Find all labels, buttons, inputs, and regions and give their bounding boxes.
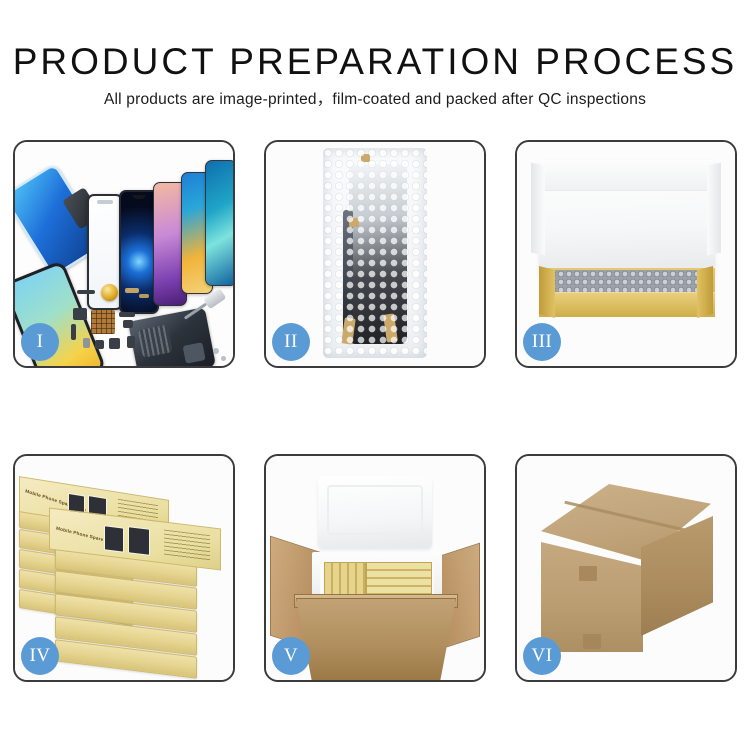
spare-part: [109, 338, 120, 349]
step-badge-icon: II: [272, 323, 310, 361]
header: PRODUCT PREPARATION PROCESS All products…: [0, 0, 750, 110]
phone-rear-chassis: [128, 307, 216, 368]
spare-part: [73, 308, 87, 320]
step-badge-icon: IV: [21, 637, 59, 675]
process-step-1[interactable]: I: [13, 140, 235, 368]
carton-tape-patch: [583, 634, 601, 649]
retail-box-spec-lines: [164, 530, 210, 562]
tray-front-face: [539, 292, 715, 317]
spare-part: [119, 312, 135, 317]
spare-part: [83, 338, 90, 348]
process-step-6[interactable]: VI: [515, 454, 737, 682]
bubble-wrap-bag: [323, 148, 427, 358]
step-badge-icon: I: [21, 323, 59, 361]
carton-body: [296, 598, 456, 682]
tray-left-edge: [539, 266, 555, 318]
kapton-tape: [349, 218, 359, 227]
spare-part: [139, 294, 149, 298]
tray-right-edge: [697, 266, 713, 318]
spare-part: [95, 340, 104, 349]
page-title: PRODUCT PREPARATION PROCESS: [0, 0, 750, 84]
chip-grid-part: [91, 310, 115, 334]
spare-part: [127, 336, 135, 348]
box-lid-right-flap: [707, 163, 721, 256]
spare-part: [221, 356, 226, 361]
process-step-4[interactable]: Mobile Phone Spare Parts Mobile Phone Sp…: [13, 454, 235, 682]
spare-part: [77, 290, 95, 294]
process-step-5[interactable]: V: [264, 454, 486, 682]
product-preparation-infographic: PRODUCT PREPARATION PROCESS All products…: [0, 0, 750, 750]
gold-coil-part: [101, 284, 118, 301]
wrapped-display-assembly: [349, 164, 407, 344]
spare-part: [213, 348, 219, 354]
page-subtitle: All products are image-printed，film-coat…: [0, 84, 750, 110]
step-badge-icon: V: [272, 637, 310, 675]
spare-part: [71, 324, 76, 340]
process-step-grid: I II: [13, 140, 737, 740]
retail-box-window: [104, 525, 124, 552]
spare-part: [123, 320, 133, 328]
box-lid-left-flap: [531, 163, 545, 256]
flex-cable: [343, 210, 353, 332]
process-step-3[interactable]: III: [515, 140, 737, 368]
kapton-tape: [361, 154, 370, 162]
retail-box-window: [128, 526, 150, 556]
foam-cooler-lid: [318, 476, 432, 548]
white-box-lid: [539, 160, 715, 276]
process-step-2[interactable]: II: [264, 140, 486, 368]
carton-tape-patch: [579, 566, 597, 581]
step-badge-icon: III: [523, 323, 561, 361]
spare-part: [125, 288, 139, 293]
step-badge-icon: VI: [523, 637, 561, 675]
teal-display-assembly: [205, 160, 235, 286]
